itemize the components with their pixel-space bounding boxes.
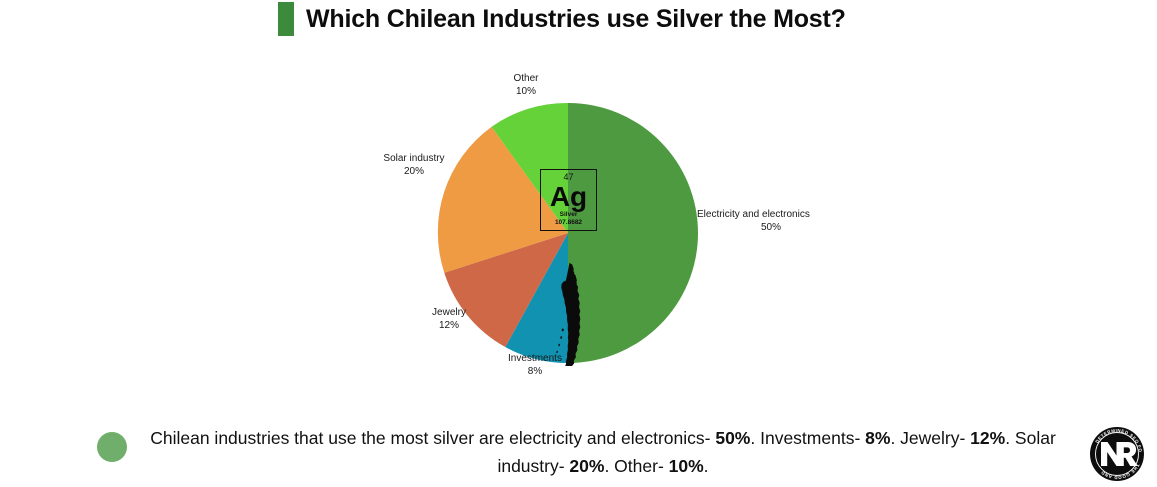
brand-logo-icon[interactable]: DETERMINED SEO FOR THE GOOD AND xyxy=(1087,424,1147,484)
pie-label-electricity-and-electronics-name: Electricity and electronics xyxy=(697,209,810,220)
caption-value-solar: 20% xyxy=(569,456,604,476)
pie-label-solar-industry: Solar industry 20% xyxy=(360,153,468,178)
pie-label-jewelry-name: Jewelry xyxy=(432,307,466,318)
pie-label-electricity-and-electronics-pct: 50% xyxy=(697,222,845,235)
element-symbol: Ag xyxy=(550,182,587,211)
pie-label-solar-industry-pct: 20% xyxy=(360,166,468,179)
pie-label-other-name: Other xyxy=(513,73,538,84)
caption-value-investments: 8% xyxy=(865,428,890,448)
element-name: Silver xyxy=(560,211,578,219)
pie-label-other-pct: 10% xyxy=(487,86,565,99)
pie-label-jewelry-pct: 12% xyxy=(406,320,492,333)
pie-slice-electricity-and-electronics[interactable] xyxy=(568,103,698,363)
pie-label-electricity-and-electronics: Electricity and electronics 50% xyxy=(697,209,957,234)
caption-seg-6: . xyxy=(704,456,709,476)
pie-label-other: Other 10% xyxy=(487,73,565,98)
caption-value-other: 10% xyxy=(669,456,704,476)
element-atomic-weight: 107.8682 xyxy=(555,219,582,227)
caption-value-jewelry: 12% xyxy=(970,428,1005,448)
caption-seg-3: . Jewelry- xyxy=(890,428,970,448)
caption-seg-5: . Other- xyxy=(604,456,668,476)
caption-seg-2: . Investments- xyxy=(750,428,865,448)
caption-seg-1: Chilean industries that use the most sil… xyxy=(150,428,715,448)
page-header: Which Chilean Industries use Silver the … xyxy=(278,2,846,36)
pie-label-investments: Investments 8% xyxy=(480,353,590,378)
caption-text: Chilean industries that use the most sil… xyxy=(133,424,1073,480)
pie-label-jewelry: Jewelry 12% xyxy=(406,307,492,332)
pie-chart: 47 Ag Silver 107.8682 Other 10% Solar in… xyxy=(0,55,1157,395)
caption-bullet-icon xyxy=(97,432,127,462)
pie-label-investments-name: Investments xyxy=(508,353,562,364)
caption-value-electricity: 50% xyxy=(715,428,750,448)
pie-label-investments-pct: 8% xyxy=(480,366,590,379)
pie-label-solar-industry-name: Solar industry xyxy=(383,153,444,164)
logo-monogram xyxy=(1101,442,1138,466)
silver-element-tile: 47 Ag Silver 107.8682 xyxy=(540,169,597,231)
title-accent-bar xyxy=(278,2,294,36)
page-title: Which Chilean Industries use Silver the … xyxy=(306,7,846,32)
